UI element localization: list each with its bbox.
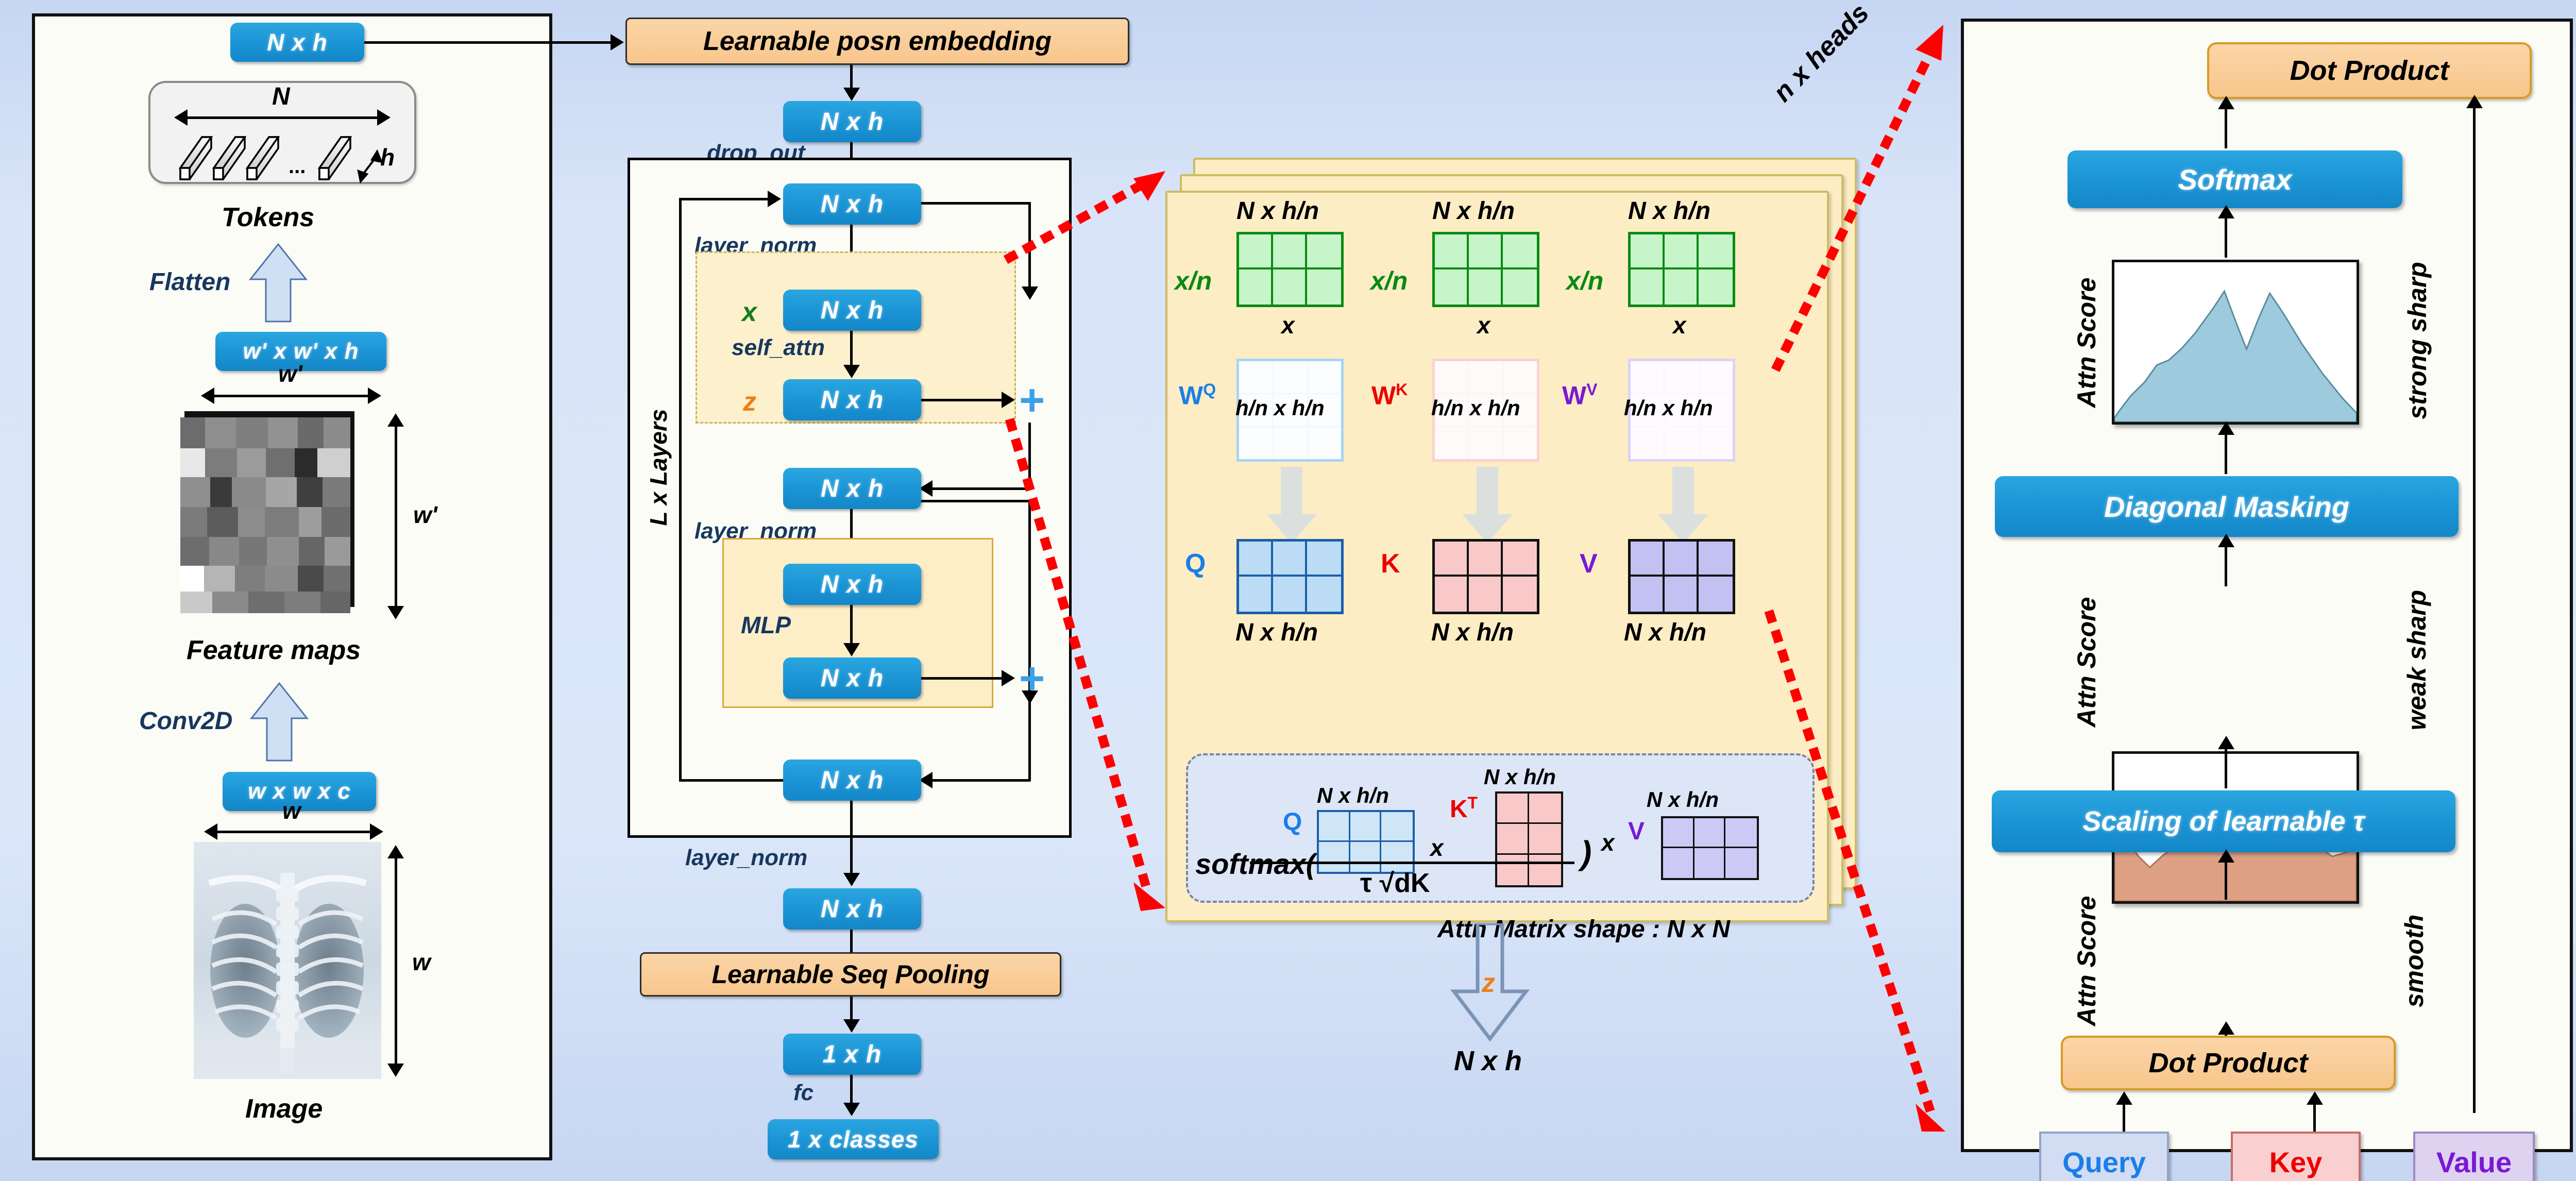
col3-out-label: V (1580, 548, 1598, 579)
diagonal-masking-block[interactable]: Diagonal Masking (1995, 476, 2459, 537)
flatten-arrow-icon (247, 241, 309, 324)
mlp-arrow (843, 643, 860, 656)
tokens-n-dimension (178, 109, 386, 126)
fc-label: fc (793, 1080, 814, 1106)
residual-left-bus (679, 198, 682, 780)
plot1-to-softmax-arrow (2218, 205, 2234, 218)
col2-x-matrix (1432, 232, 1539, 307)
chip-pooled: 1 x h (783, 1034, 921, 1075)
col1-w-sup: Q (1203, 380, 1216, 399)
residual-left-arrow (768, 191, 781, 207)
chest-xray-image (194, 842, 381, 1079)
formula-close-paren: ) (1581, 834, 1591, 872)
skip1-v (1028, 202, 1031, 296)
n-heads-label: n x heads (1767, 0, 1875, 108)
image-width-label: w (282, 797, 301, 824)
value-bypass-arrow (2466, 95, 2483, 108)
col2-w-label: WK (1371, 380, 1408, 411)
strong-sharp-label: strong sharp (2402, 243, 2432, 438)
plot2-to-mask-arrow (2218, 534, 2234, 547)
formula-q-label: Q (1283, 808, 1302, 836)
skip1-arrow (1022, 286, 1038, 300)
key-box[interactable]: Key (2231, 1132, 2361, 1181)
pe-input-arrow (611, 34, 624, 50)
plus2-down (1028, 701, 1031, 781)
featuremap-caption: Feature maps (187, 635, 361, 666)
skip1-h (921, 202, 1030, 205)
learnable-posn-embedding[interactable]: Learnable posn embedding (625, 18, 1129, 65)
col2-out-dim: N x h/n (1431, 618, 1514, 647)
col1-x-matrix (1236, 232, 1344, 307)
query-box[interactable]: Query (2039, 1132, 2169, 1181)
formula-k-label: KT (1450, 794, 1478, 823)
token-slabs-icon: ... (165, 128, 407, 184)
chip-mlp-input: N x h (783, 564, 921, 605)
col3-w-dim: h/n x h/n (1624, 396, 1713, 420)
col3-w-base: W (1562, 381, 1586, 410)
mlp-label: MLP (741, 611, 791, 639)
col3-w-sup: V (1586, 380, 1597, 399)
plus2-to-out (927, 779, 1030, 782)
heads-z-marker: z (1482, 968, 1495, 999)
tokens-shape-chip: N x h (230, 23, 364, 62)
formula-times-2: x (1601, 829, 1615, 856)
chip-self-attn-input: N x h (783, 290, 921, 331)
scaling-block[interactable]: Scaling of learnable τ (1992, 790, 2455, 852)
chip-block-input: N x h (783, 183, 921, 225)
chip-mlp-output: N x h (783, 657, 921, 699)
residual-add-2: + (1019, 656, 1045, 701)
chip-classes: 1 x classes (768, 1119, 939, 1159)
col1-w-dim: h/n x h/n (1235, 396, 1325, 420)
formula-v-matrix (1661, 816, 1759, 880)
featuremap-height-dimension (387, 418, 404, 614)
col3-top-dim: N x h/n (1628, 197, 1710, 225)
x-marker: x (742, 297, 757, 328)
featuremap-width-dimension (205, 387, 377, 404)
col1-down-block-arrow (1263, 467, 1320, 544)
conv2d-arrow-icon (248, 680, 310, 763)
z-to-plus-arrow (1002, 392, 1015, 408)
pe-input-line (364, 41, 612, 44)
col1-q-matrix (1236, 539, 1344, 614)
col3-xn-label: x/n (1566, 266, 1603, 296)
mlp-to-plus-arrow (1002, 670, 1015, 686)
image-height-dimension (387, 850, 404, 1072)
formula-q-dim: N x h/n (1317, 783, 1389, 808)
col2-down-block-arrow (1459, 467, 1516, 544)
block-out-line (850, 801, 853, 882)
dot-product-bottom[interactable]: Dot Product (2061, 1036, 2396, 1090)
loopback-to-left (679, 779, 787, 782)
block-out-arrow (843, 873, 860, 886)
z-to-plus-line (921, 399, 1004, 401)
value-bypass-line (2473, 98, 2476, 1113)
key-to-dot-arrow (2307, 1091, 2323, 1105)
col2-top-dim: N x h/n (1432, 197, 1515, 225)
formula-q-matrix (1317, 810, 1415, 874)
z-marker: z (743, 386, 756, 417)
conv2d-label: Conv2D (139, 707, 232, 735)
chip-final: N x h (783, 888, 921, 930)
pool-to-chip-arrow (843, 1019, 860, 1033)
formula-v-label: V (1628, 817, 1645, 846)
selfattn-arrow (843, 365, 860, 378)
query-to-dot-arrow (2116, 1091, 2132, 1105)
chip-self-attn-output: N x h (783, 379, 921, 420)
dot-to-plot3-arrow (2218, 1021, 2234, 1035)
image-height-label: w (412, 948, 431, 976)
value-box[interactable]: Value (2413, 1132, 2535, 1181)
chip-mid: N x h (783, 468, 921, 509)
attn-score-label-1: Attn Score (2072, 260, 2102, 425)
col1-out-dim: N x h/n (1235, 618, 1318, 647)
skip2-h (921, 500, 1030, 502)
featuremap-width-label: w' (278, 360, 302, 387)
col1-w-label: WQ (1179, 380, 1216, 411)
image-width-dimension (208, 823, 379, 840)
featuremap-height-label: w' (413, 501, 437, 529)
learnable-seq-pooling[interactable]: Learnable Seq Pooling (640, 952, 1061, 997)
tokens-n-label: N (272, 82, 290, 111)
col2-out-label: K (1381, 548, 1400, 579)
col3-v-matrix (1628, 539, 1735, 614)
col3-down-block-arrow (1655, 467, 1711, 544)
col2-w-base: W (1371, 381, 1396, 410)
fc-arrow (843, 1103, 860, 1116)
formula-denominator: τ √dK (1360, 868, 1430, 899)
attn-score-label-3: Attn Score (2072, 879, 2102, 1043)
col2-w-dim: h/n x h/n (1431, 396, 1520, 420)
col1-mult: x (1281, 311, 1295, 339)
self-attn-label: self_attn (732, 335, 825, 361)
heads-output-dim: N x h (1454, 1045, 1522, 1077)
col3-w-label: WV (1562, 380, 1598, 411)
plus1-down (1028, 423, 1031, 490)
col3-x-matrix (1628, 232, 1735, 307)
formula-kt-matrix (1495, 791, 1563, 887)
diagram-canvas: N x h N ... h Tokens Flatten w' x w' x h (0, 0, 2576, 1181)
col1-top-dim: N x h/n (1236, 197, 1319, 225)
dot-product-top[interactable]: Dot Product (2207, 42, 2532, 99)
formula-v-dim: N x h/n (1647, 787, 1719, 812)
col2-xn-label: x/n (1370, 266, 1408, 296)
layer-norm-3-label: layer_norm (685, 845, 807, 871)
smooth-label: smooth (2399, 889, 2429, 1033)
softmax-to-dot-arrow (2218, 96, 2234, 109)
weak-sharp-label: weak sharp (2402, 565, 2432, 755)
chip-block-output: N x h (783, 760, 921, 801)
formula-k-dim: N x h/n (1484, 765, 1556, 789)
residual-add-1: + (1019, 378, 1045, 423)
col1-w-base: W (1179, 381, 1203, 410)
attn-score-plot-strong (2112, 260, 2359, 425)
mlp-to-plus-line (921, 677, 1004, 680)
softmax-block[interactable]: Softmax (2067, 150, 2402, 208)
flatten-label: Flatten (149, 268, 230, 296)
pe-to-chip-arrow (843, 88, 860, 101)
scaling-to-plot2-arrow (2218, 736, 2234, 749)
tokens-h-label: h (380, 143, 395, 171)
chip-after-posn-embedding: N x h (783, 101, 921, 142)
col2-k-matrix (1432, 539, 1539, 614)
mask-to-plot1-arrow (2218, 421, 2234, 435)
formula-fraction-bar (1250, 862, 1574, 864)
tokens-caption: Tokens (222, 202, 314, 233)
attn-score-label-2: Attn Score (2072, 580, 2102, 745)
formula-k-base: K (1450, 796, 1468, 823)
plus1-to-mid (927, 487, 1030, 490)
col3-out-dim: N x h/n (1624, 618, 1706, 647)
residual-left-to-chip (679, 198, 777, 200)
svg-text:...: ... (289, 155, 306, 178)
formula-k-sup: T (1468, 794, 1478, 812)
feature-map-image (175, 407, 381, 623)
col1-out-label: Q (1185, 548, 1206, 579)
plot3-to-scaling-arrow (2218, 849, 2234, 863)
col1-xn-label: x/n (1175, 266, 1212, 296)
col3-mult: x (1673, 311, 1686, 339)
image-caption: Image (245, 1093, 323, 1124)
col2-mult: x (1477, 311, 1490, 339)
col2-w-sup: K (1396, 380, 1408, 399)
layers-label: L x Layers (645, 390, 672, 545)
formula-times-1: x (1430, 834, 1444, 862)
